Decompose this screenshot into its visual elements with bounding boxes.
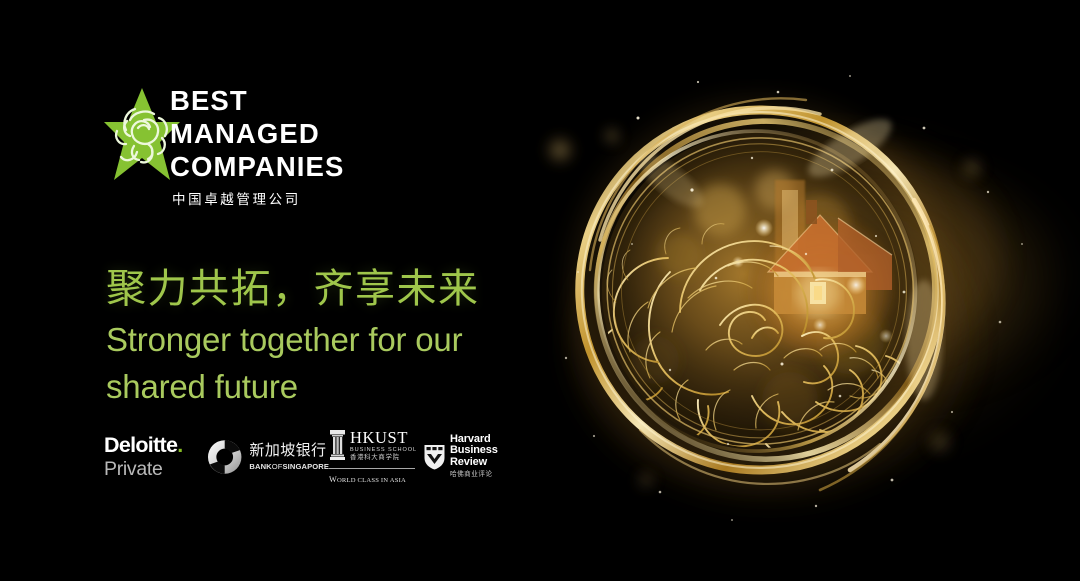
hkust-top-row: HKUST BUSINESS SCHOOL 香港科大商学院	[329, 429, 417, 462]
hkust-tagline-initial: W	[329, 475, 337, 484]
golden-circle-artwork	[520, 40, 1080, 550]
hbr-line-review: Review	[450, 457, 498, 469]
bos-english-name: BANKOFSINGAPORE	[249, 461, 329, 472]
hkust-divider	[329, 468, 415, 469]
bos-chinese-name: 新加坡银行	[249, 442, 329, 459]
best-managed-companies-logo: BEST MANAGED COMPANIES 中国卓越管理公司	[104, 84, 524, 209]
hkust-names: HKUST BUSINESS SCHOOL 香港科大商学院	[350, 429, 417, 462]
tagline-english-line-1: Stronger together for our	[106, 316, 556, 363]
deloitte-green-dot: .	[177, 433, 182, 457]
tagline-english-line-2: shared future	[106, 363, 556, 410]
hkust-pillar-icon	[329, 429, 346, 461]
tagline-chinese: 聚力共拓，齐享未来	[106, 256, 480, 314]
green-star-icon	[104, 86, 180, 182]
logo-chinese-subtitle: 中国卓越管理公司	[172, 188, 301, 208]
logo-line-1: BEST	[170, 84, 344, 117]
hkust-school-label: BUSINESS SCHOOL	[350, 446, 417, 454]
sponsor-deloitte-private: Deloitte. Private	[104, 428, 207, 486]
harvard-shield-icon	[423, 444, 446, 470]
deloitte-private-label: Private	[104, 458, 163, 481]
sponsor-harvard-business-review: Harvard Business Review 哈佛商业评论	[423, 428, 507, 486]
hkust-wordmark: HKUST	[350, 429, 417, 446]
sponsor-hkust-business-school: HKUST BUSINESS SCHOOL 香港科大商学院 WORLD CLAS…	[329, 428, 423, 486]
logo-wordmark: BEST MANAGED COMPANIES	[170, 84, 344, 183]
logo-line-2: MANAGED	[170, 117, 344, 150]
sponsor-logo-row: Deloitte. Private 新加坡银行 BANK	[104, 428, 507, 486]
bos-wordmark: 新加坡银行 BANKOFSINGAPORE	[249, 442, 329, 472]
deloitte-name: Deloitte	[104, 433, 177, 457]
tagline-english: Stronger together for our shared future	[106, 316, 556, 410]
hbr-chinese-name: 哈佛商业评论	[450, 470, 498, 480]
deloitte-wordmark: Deloitte.	[104, 434, 183, 457]
hkust-tagline: WORLD CLASS IN ASIA	[329, 474, 406, 486]
bos-en-of: OF	[272, 462, 283, 471]
hkust-chinese-name: 香港科大商学院	[350, 454, 417, 462]
promo-banner: BEST MANAGED COMPANIES 中国卓越管理公司 聚力共拓，齐享未…	[0, 0, 1080, 581]
hkust-tagline-rest: ORLD CLASS IN ASIA	[337, 477, 406, 484]
artwork-svg	[520, 40, 1080, 550]
bos-en-singapore: SINGAPORE	[283, 462, 329, 471]
hbr-wordmark: Harvard Business Review 哈佛商业评论	[450, 434, 498, 481]
logo-line-3: COMPANIES	[170, 150, 344, 183]
sponsor-bank-of-singapore: 新加坡银行 BANKOFSINGAPORE	[207, 428, 329, 486]
swirl-circle-icon	[207, 439, 242, 475]
bos-en-bank: BANK	[249, 462, 271, 471]
